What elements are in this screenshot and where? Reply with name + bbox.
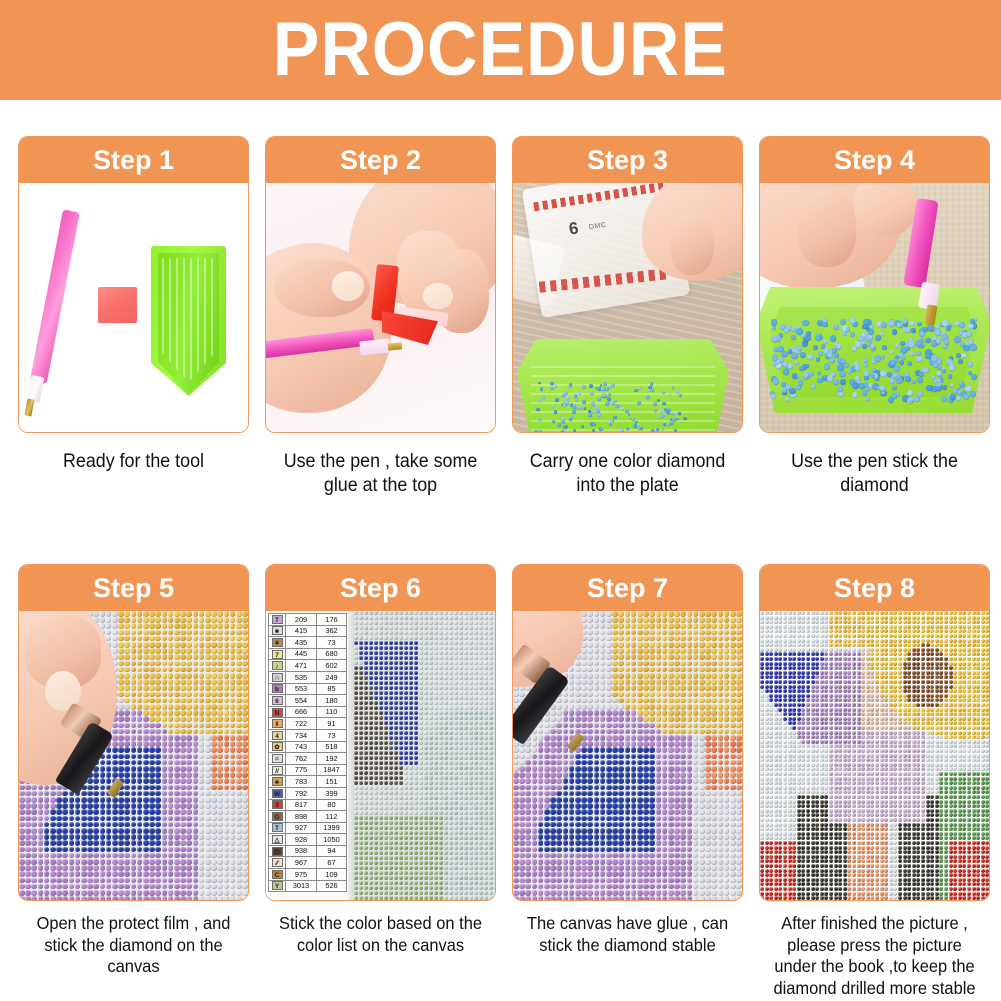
diamond-bead: [926, 385, 933, 392]
diamond-bead: [637, 401, 641, 405]
diamond-bead: [852, 382, 859, 389]
diamond-bead: [662, 402, 666, 406]
color-swatch-icon: C: [272, 870, 283, 879]
step-card-5[interactable]: Step 5: [18, 564, 249, 901]
diamond-bead: [916, 356, 923, 363]
color-symbol-cell: T: [269, 822, 286, 834]
diamond-bead: [785, 397, 790, 402]
diamond-bead: [864, 376, 869, 381]
diamond-bead: [852, 392, 858, 398]
color-code-cell: 3013: [286, 880, 317, 892]
color-symbol-cell: T: [269, 614, 286, 626]
diamond-bead: [674, 429, 677, 432]
fingernail-icon: [423, 283, 453, 309]
step-header-4: Step 4: [760, 137, 989, 183]
color-code-chart: T209176■415362✶435737445680♪471602∩53524…: [266, 611, 348, 900]
diamond-bead: [855, 365, 860, 370]
diamond-bead: [578, 406, 581, 409]
diamond-bead: [575, 398, 578, 401]
color-swatch-icon: b: [272, 684, 283, 693]
diamond-bead: [640, 427, 643, 430]
diamond-bead: [676, 418, 679, 421]
color-chart-row: N666110: [269, 706, 347, 718]
color-chart-row: b55385: [269, 683, 347, 695]
diamond-bead: [823, 339, 828, 344]
diamond-bead: [784, 328, 789, 333]
diamond-bead: [889, 378, 895, 384]
color-chart-row: Y3013526: [269, 880, 347, 892]
step-card-3[interactable]: Step 3 6 DMC: [512, 136, 743, 433]
color-code-cell: 938: [286, 845, 317, 857]
step-caption-5: Open the protect film , and stick the di…: [25, 913, 242, 978]
diamond-bead: [672, 386, 675, 389]
diamond-bead: [611, 402, 614, 405]
diamond-bead: [827, 375, 833, 381]
step-card-8[interactable]: Step 8: [759, 564, 990, 901]
diamond-bead: [905, 376, 911, 382]
color-count-cell: 109: [317, 869, 347, 881]
diamond-bead: [662, 391, 665, 394]
diamond-bead: [540, 387, 544, 391]
color-code-cell: 762: [286, 753, 317, 765]
diamond-bead: [551, 405, 554, 408]
diamond-bead: [679, 394, 682, 397]
diamond-bead: [882, 345, 887, 350]
diamond-bead: [875, 335, 881, 341]
diamond-bead: [791, 353, 797, 359]
pink-pen-barrel-icon: [30, 209, 80, 384]
diamond-bead: [850, 332, 855, 337]
pen-glue-photo: [266, 183, 495, 432]
diamond-bead: [781, 382, 786, 387]
diamond-bead: [772, 326, 776, 330]
color-chart-row: G898112: [269, 811, 347, 823]
color-count-cell: 180: [317, 695, 347, 707]
diamond-bead: [538, 399, 541, 402]
diamond-bead: [581, 425, 584, 428]
diamond-bead: [954, 321, 960, 327]
diamond-bead: [559, 415, 562, 418]
step-header-5: Step 5: [19, 565, 248, 611]
step-card-6[interactable]: Step 6 T209176■415362✶435737445680♪47160…: [265, 564, 496, 901]
color-symbol-cell: N: [269, 706, 286, 718]
step-card-1[interactable]: Step 1: [18, 136, 249, 433]
color-chart-row: ⁄⁄96767: [269, 857, 347, 869]
color-code-cell: 817: [286, 799, 317, 811]
diamond-bead: [566, 395, 570, 399]
page-header-banner: PROCEDURE: [0, 0, 1001, 100]
step-card-2[interactable]: Step 2: [265, 136, 496, 433]
color-swatch-icon: 7: [272, 650, 283, 659]
diamond-bead: [824, 363, 830, 369]
color-swatch-icon: //: [272, 766, 283, 775]
color-code-cell: 792: [286, 787, 317, 799]
diamond-bead: [968, 361, 973, 366]
color-chart-row: 381780: [269, 799, 347, 811]
diamond-bead: [847, 369, 852, 374]
step-image-1: [19, 183, 248, 432]
diamond-bead: [673, 412, 676, 415]
diamond-bead: [557, 423, 560, 426]
diamond-bead: [650, 382, 654, 386]
diamond-bead: [969, 391, 975, 397]
diamond-bead: [564, 391, 568, 395]
glue-canvas-photo: [513, 611, 742, 900]
blue-diamond-beads: [760, 287, 989, 413]
step-image-5: [19, 611, 248, 900]
diamond-bead: [607, 397, 611, 401]
color-count-cell: 73: [317, 637, 347, 649]
diamond-bead: [606, 401, 610, 405]
color-count-cell: 192: [317, 753, 347, 765]
diamond-canvas-mosaic: [354, 611, 495, 900]
diamond-bead: [620, 407, 623, 410]
diamond-bead: [919, 372, 924, 377]
diamond-bead: [538, 382, 541, 385]
color-count-cell: 680: [317, 648, 347, 660]
diamond-bead: [925, 354, 931, 360]
diamond-bead: [907, 390, 913, 396]
diamond-bead: [968, 371, 972, 375]
color-code-cell: 471: [286, 660, 317, 672]
diamond-bead: [933, 362, 939, 368]
color-code-cell: 898: [286, 811, 317, 823]
color-code-cell: 734: [286, 729, 317, 741]
diamond-bead: [789, 388, 796, 395]
color-count-cell: 362: [317, 625, 347, 637]
color-count-cell: 1050: [317, 834, 347, 846]
diamond-bead: [840, 319, 846, 325]
diamond-bead: [601, 427, 604, 430]
color-code-cell: 209: [286, 614, 317, 626]
color-code-cell: 666: [286, 706, 317, 718]
diamond-bead: [855, 341, 861, 347]
diamond-bead: [833, 324, 840, 331]
diamond-bead: [799, 366, 804, 371]
step-header-1: Step 1: [19, 137, 248, 183]
diamond-bead: [959, 322, 965, 328]
color-swatch-icon: ∩: [272, 673, 283, 682]
diamond-bead: [881, 355, 885, 359]
step-cell-5: Step 5 Open the protect film , and stick…: [18, 564, 249, 978]
diamond-bead: [936, 378, 941, 383]
diamond-bead: [771, 319, 777, 325]
diamond-bead: [625, 409, 629, 413]
diamond-bead: [839, 371, 846, 378]
color-symbol-cell: W: [269, 787, 286, 799]
color-swatch-icon: W: [272, 789, 283, 798]
diamond-bead: [596, 406, 599, 409]
color-chart-table: T209176■415362✶435737445680♪471602∩53524…: [268, 613, 347, 892]
color-count-cell: 91: [317, 718, 347, 730]
diamond-bead: [809, 371, 814, 376]
stick-diamond-photo: [19, 611, 248, 900]
color-count-cell: 80: [317, 799, 347, 811]
diamond-bead: [859, 383, 865, 389]
diamond-bead: [909, 321, 914, 326]
green-tray-icon: [517, 339, 729, 432]
diamond-bead: [931, 355, 938, 362]
diamond-bead: [870, 374, 875, 379]
diamond-bead: [676, 390, 680, 394]
diamond-bead: [864, 363, 868, 367]
color-count-cell: 602: [317, 660, 347, 672]
diamond-bead: [573, 429, 576, 432]
color-symbol-cell: 4: [269, 729, 286, 741]
diamond-bead: [904, 327, 911, 334]
diamond-bead: [880, 370, 887, 377]
diamond-bead: [968, 323, 974, 329]
procedure-infographic: PROCEDURE Step 1: [0, 0, 1001, 1001]
color-chart-row: ■415362: [269, 625, 347, 637]
diamond-bead: [572, 410, 576, 414]
diamond-bead: [874, 355, 881, 362]
diamond-bead: [813, 345, 818, 350]
color-swatch-icon: =: [272, 754, 283, 763]
color-symbol-cell: =: [269, 753, 286, 765]
diamond-bead: [876, 321, 882, 327]
diamond-bead: [861, 332, 867, 338]
step-caption-8: After finished the picture , please pres…: [766, 913, 983, 1000]
color-chart-row: ✶43573: [269, 637, 347, 649]
color-code-cell: 928: [286, 834, 317, 846]
color-code-cell: 722: [286, 718, 317, 730]
color-count-cell: 85: [317, 683, 347, 695]
color-chart-row: 6554180: [269, 695, 347, 707]
color-chart-row: ✿743518: [269, 741, 347, 753]
diamond-bead: [911, 328, 915, 332]
step-label-4: Step 4: [834, 147, 915, 174]
color-count-cell: 67: [317, 857, 347, 869]
color-swatch-icon: ✿: [272, 742, 283, 751]
step-cell-8: Step 8 After finished the picture , plea…: [759, 564, 990, 1000]
diamond-bead: [816, 357, 821, 362]
step-label-5: Step 5: [93, 575, 174, 602]
diamond-bead: [830, 335, 836, 341]
color-swatch-icon: ♪: [272, 661, 283, 670]
diamond-bead: [661, 414, 665, 418]
color-code-cell: 535: [286, 671, 317, 683]
diamond-bead: [783, 368, 789, 374]
color-code-cell: 783: [286, 776, 317, 788]
step-caption-2: Use the pen , take some glue at the top: [272, 450, 489, 499]
tool-kit-photo: [19, 183, 248, 432]
diamond-bead: [917, 391, 923, 397]
diamond-bead: [899, 360, 904, 365]
color-code-cell: 967: [286, 857, 317, 869]
diamond-bead: [966, 331, 972, 337]
color-count-cell: 1847: [317, 764, 347, 776]
diamond-bead: [590, 391, 594, 395]
color-chart-row: ♪471602: [269, 660, 347, 672]
diamond-bead: [961, 353, 967, 359]
color-swatch-icon: T: [272, 615, 283, 624]
diamond-bead: [538, 418, 541, 421]
color-chart-row: W792399: [269, 787, 347, 799]
diamond-bead: [942, 369, 946, 373]
step-cell-2: Step 2: [265, 136, 496, 499]
diamond-bead: [963, 394, 969, 400]
diamond-bead: [907, 361, 912, 366]
diamond-bead: [971, 374, 978, 381]
diamond-bead: [588, 414, 592, 418]
step-cell-3: Step 3 6 DMC: [512, 136, 743, 499]
color-chart-row: T209176: [269, 614, 347, 626]
diamond-bead: [667, 412, 670, 415]
step-label-1: Step 1: [93, 147, 174, 174]
diamond-bead: [806, 331, 811, 336]
diamond-bead: [798, 380, 804, 386]
step-card-4[interactable]: Step 4: [759, 136, 990, 433]
diamond-bead: [956, 396, 961, 401]
color-code-cell: 435: [286, 637, 317, 649]
diamond-bead: [605, 387, 609, 391]
step-card-7[interactable]: Step 7: [512, 564, 743, 901]
color-swatch-icon: 4: [272, 731, 283, 740]
diamond-bead: [910, 352, 914, 356]
color-code-cell: 743: [286, 741, 317, 753]
color-symbol-cell: △: [269, 834, 286, 846]
diamond-bead: [614, 400, 616, 402]
diamond-bead: [597, 410, 600, 413]
diamond-bead: [569, 383, 572, 386]
diamond-bead: [542, 396, 545, 399]
diamond-bead: [654, 409, 656, 411]
color-swatch-icon: ✶: [272, 638, 283, 647]
color-count-cell: 1399: [317, 822, 347, 834]
step-image-8: [760, 611, 989, 900]
diamond-bead: [683, 417, 687, 421]
diamond-bead: [795, 361, 799, 365]
diamond-bead: [935, 329, 942, 336]
diamond-bead: [868, 329, 874, 335]
diamond-bead: [917, 322, 922, 327]
color-chart-row: =762192: [269, 753, 347, 765]
diamond-bead: [811, 384, 816, 389]
diamond-bead: [653, 402, 657, 406]
diamond-bead: [842, 331, 847, 336]
color-symbol-cell: ⁄⁄: [269, 857, 286, 869]
color-code-cell: 975: [286, 869, 317, 881]
diamond-bead: [864, 358, 868, 362]
diamond-bead: [565, 400, 569, 404]
diamond-bead: [946, 325, 951, 330]
color-symbol-cell: Y: [269, 880, 286, 892]
finger-icon: [798, 189, 856, 267]
step-caption-6: Stick the color based on the color list …: [272, 913, 489, 956]
step-image-2: [266, 183, 495, 432]
color-symbol-cell: //: [269, 764, 286, 776]
pen-tip-icon: [24, 398, 34, 416]
step-header-3: Step 3: [513, 137, 742, 183]
step-caption-4: Use the pen stick the diamond: [766, 450, 983, 499]
color-swatch-icon: T: [272, 823, 283, 832]
diamond-bead: [948, 374, 952, 378]
diamond-bead: [890, 360, 896, 366]
diamond-bead: [600, 431, 604, 432]
color-chart-row: △9281050: [269, 834, 347, 846]
color-chart-row: T9271399: [269, 822, 347, 834]
diamond-bead: [561, 430, 564, 432]
diamond-bead: [950, 395, 955, 400]
color-symbol-cell: G: [269, 811, 286, 823]
diamond-bead: [582, 385, 586, 389]
diamond-bead: [553, 384, 557, 388]
step-caption-3: Carry one color diamond into the plate: [519, 450, 736, 499]
diamond-bead: [611, 383, 615, 387]
diamond-bead: [887, 372, 892, 377]
color-list-photo: T209176■415362✶435737445680♪471602∩53524…: [266, 611, 495, 900]
step-header-2: Step 2: [266, 137, 495, 183]
diamond-bead: [787, 363, 793, 369]
color-symbol-cell: ⊡: [269, 845, 286, 857]
diamond-bead: [608, 393, 611, 396]
color-swatch-icon: △: [272, 835, 283, 844]
diamond-bead: [661, 427, 664, 430]
diamond-bead: [899, 324, 903, 328]
finger-icon: [854, 183, 916, 237]
color-chart-row: ⊡93894: [269, 845, 347, 857]
diamond-bead: [657, 399, 660, 402]
color-chart-row: ♣783151: [269, 776, 347, 788]
diamond-bead: [936, 338, 941, 343]
diamond-bead: [915, 340, 922, 347]
step-header-7: Step 7: [513, 565, 742, 611]
diamond-bead: [832, 348, 837, 353]
diamond-bead: [637, 423, 640, 426]
color-code-cell: 415: [286, 625, 317, 637]
color-code-cell: 445: [286, 648, 317, 660]
diamond-bead: [805, 364, 809, 368]
diamond-bead: [626, 427, 629, 430]
green-tray-icon: [760, 287, 989, 413]
diamond-bead: [970, 319, 975, 324]
step-caption-1: Ready for the tool: [25, 450, 242, 474]
color-swatch-icon: ♣: [272, 777, 283, 786]
diamond-bead: [817, 378, 822, 383]
diamond-bead: [613, 416, 616, 419]
diamond-bead: [902, 356, 907, 361]
color-count-cell: 518: [317, 741, 347, 753]
diamond-bead: [561, 420, 565, 424]
diamond-bead: [800, 352, 806, 358]
diamond-bead: [818, 351, 823, 356]
color-chart-row: ∩535249: [269, 671, 347, 683]
color-swatch-icon: G: [272, 812, 283, 821]
diamond-bead: [658, 416, 661, 419]
step-label-2: Step 2: [340, 147, 421, 174]
diamond-bead: [773, 378, 780, 385]
color-symbol-cell: 3: [269, 799, 286, 811]
color-symbol-cell: ‖: [269, 718, 286, 730]
diamond-bead: [855, 376, 860, 381]
diamond-bead: [594, 410, 597, 413]
color-count-cell: 399: [317, 787, 347, 799]
diamond-bead: [802, 320, 808, 326]
glue-square-icon: [98, 287, 137, 323]
color-symbol-cell: ♣: [269, 776, 286, 788]
diamond-bead: [591, 411, 594, 414]
diamond-bead: [865, 397, 870, 402]
color-code-cell: 775: [286, 764, 317, 776]
step-image-6: T209176■415362✶435737445680♪471602∩53524…: [266, 611, 495, 900]
diamond-bead: [555, 398, 559, 402]
diamond-bead: [796, 345, 802, 351]
green-tray-icon: [151, 246, 226, 396]
diamond-bead: [572, 405, 576, 409]
color-symbol-cell: ■: [269, 625, 286, 637]
color-chart-row: 7445680: [269, 648, 347, 660]
